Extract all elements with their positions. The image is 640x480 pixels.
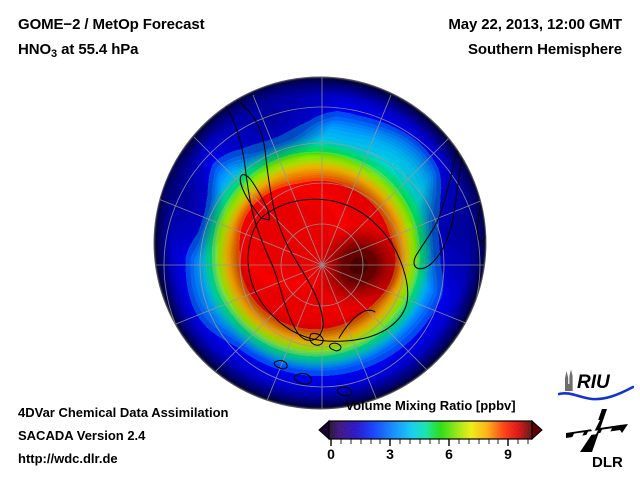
website-url[interactable]: http://wdc.dlr.de [18, 451, 118, 466]
assimilation-method-label: 4DVar Chemical Data Assimilation [18, 405, 229, 420]
version-label: SACADA Version 2.4 [18, 428, 145, 443]
riu-logo: RIU [558, 369, 634, 403]
forecast-map-page: GOME−2 / MetOp Forecast HNO3 at 55.4 hPa… [0, 0, 640, 480]
colorbar-tick-label-0: 0 [327, 446, 335, 462]
page-title: GOME−2 / MetOp Forecast [18, 16, 205, 33]
species-level-label: HNO3 at 55.4 hPa [18, 41, 138, 60]
colorbar-tick-label-9: 9 [504, 446, 512, 462]
colorbar-extend-low-arrow [319, 421, 329, 439]
riu-wordmark: RIU [577, 372, 611, 393]
cathedral-spires-icon [565, 370, 573, 392]
colorbar-dither [329, 421, 532, 439]
colorbar-tick-label-3: 3 [386, 446, 394, 462]
dlr-wordmark: DLR [592, 454, 623, 470]
dlr-logo: DLR [562, 408, 634, 470]
colorbar-title: Volume Mixing Ratio [ppbv] [318, 398, 543, 413]
colorbar-ticks [331, 439, 528, 446]
hemisphere-label: Southern Hemisphere [468, 41, 622, 58]
polar-projection-map [153, 76, 487, 410]
species-name: HNO [18, 41, 51, 58]
concentration-field [153, 76, 487, 409]
pressure-level: at 55.4 hPa [57, 41, 138, 58]
colorbar-tick-label-6: 6 [445, 446, 453, 462]
colorbar: Volume Mixing Ratio [ppbv] [318, 398, 543, 468]
colorbar-extend-high-arrow [532, 421, 542, 439]
forecast-datetime: May 22, 2013, 12:00 GMT [448, 16, 622, 33]
limb-shading [154, 77, 486, 409]
